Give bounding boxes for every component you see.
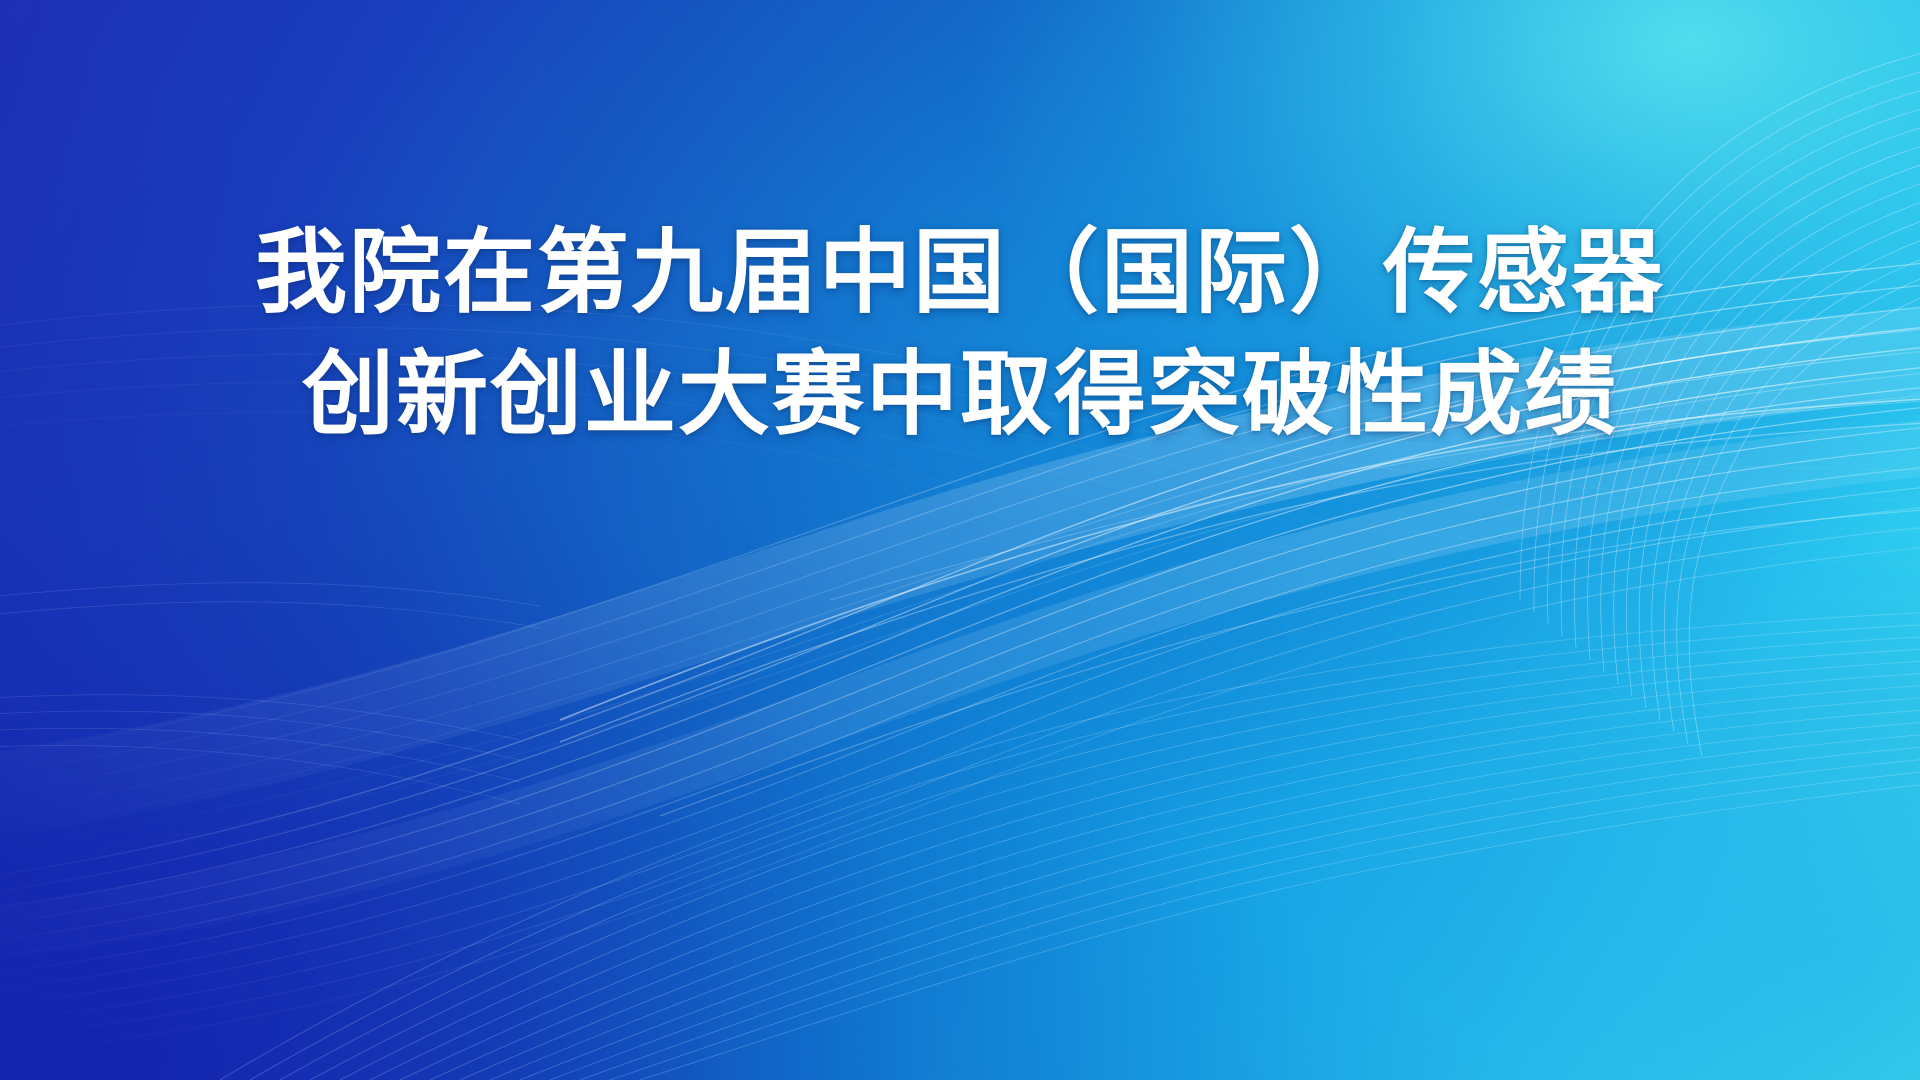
background-shade-bottom-left <box>0 0 1920 1080</box>
banner-image: 我院在第九届中国（国际）传感器 创新创业大赛中取得突破性成绩 <box>0 0 1920 1080</box>
title-line-1: 我院在第九届中国（国际）传感器 <box>0 212 1920 334</box>
title-line-2: 创新创业大赛中取得突破性成绩 <box>0 334 1920 456</box>
banner-title: 我院在第九届中国（国际）传感器 创新创业大赛中取得突破性成绩 <box>0 212 1920 457</box>
